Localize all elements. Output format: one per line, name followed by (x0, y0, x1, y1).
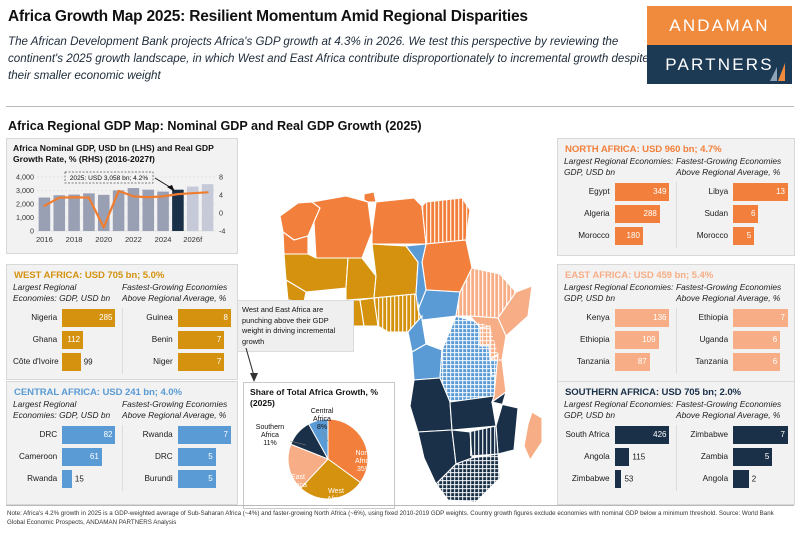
region-bar-row: Côte d'Ivoire99 (13, 352, 116, 372)
region-panel-east: EAST AFRICA: USD 459 bn; 5.4%Largest Reg… (557, 264, 795, 382)
pie-slice-label: Southern (256, 424, 285, 431)
africa-gdp-chart-panel: Africa Nominal GDP, USD bn (LHS) and Rea… (6, 138, 238, 254)
region-bar-label: Tanzania (564, 357, 615, 366)
region-heading-west: WEST AFRICA: USD 705 bn; 5.0% (7, 265, 237, 282)
region-bar-column-fastest: Zimbabwe7Zambia5Angola2 (677, 425, 789, 491)
growth-share-pie-panel: Share of Total Africa Growth, % (2025) N… (243, 382, 395, 509)
region-bars-southern: South Africa426Angola115Zimbabwe53Zimbab… (558, 421, 794, 497)
region-subtitles-central: Largest Regional Economies: GDP, USD bnF… (7, 399, 237, 421)
region-bar-value: 109 (642, 335, 658, 344)
page-subtitle: The African Development Bank projects Af… (8, 34, 653, 84)
region-bar-value: 6 (773, 357, 780, 366)
region-bar-label: Angola (683, 474, 734, 483)
region-bar-fill: 288 (615, 205, 660, 223)
region-bar-value: 136 (653, 313, 669, 322)
pie-slice-label: Africa (355, 458, 373, 465)
region-bar-fill: 180 (615, 227, 643, 245)
pie-slice-label: West (328, 488, 344, 495)
pie-slice-label: Africa (289, 482, 307, 489)
region-bar-value: 7 (781, 313, 788, 322)
map-country-mali (346, 258, 376, 300)
map-country-egypt-hatch (422, 198, 470, 244)
region-bar-row: Angola2 (683, 469, 789, 489)
region-bars-west: Nigeria285Ghana112Côte d'Ivoire99Guinea8… (7, 304, 237, 380)
region-bar-row: Zimbabwe53 (564, 469, 670, 489)
chart-ytick-left: 3,000 (16, 186, 34, 195)
region-bar-track: 82 (62, 426, 115, 444)
region-bar-track: 15 (62, 470, 115, 488)
region-bar-row: Libya13 (683, 182, 789, 202)
region-bar-value: 5 (208, 452, 215, 461)
region-bar-fill (733, 470, 749, 488)
region-bar-value: 180 (627, 231, 643, 240)
region-bar-row: Tanzania6 (683, 352, 789, 372)
region-heading-north: NORTH AFRICA: USD 960 bn; 4.7% (558, 139, 794, 156)
region-bar-value: 7 (217, 357, 224, 366)
region-bar-track: 5 (178, 470, 231, 488)
region-bar-row: Tanzania87 (564, 352, 670, 372)
map-country-algeria (312, 196, 372, 258)
pie-slice-label: 19% (291, 490, 305, 497)
region-bar-fill: 87 (615, 353, 650, 371)
region-bars-central: DRC82Cameroon61Rwanda15Rwanda7DRC5Burund… (7, 421, 237, 497)
region-bar-fill: 109 (615, 331, 659, 349)
region-bar-label: Uganda (683, 335, 734, 344)
region-bar-value: 6 (751, 209, 758, 218)
region-heading-east: EAST AFRICA: USD 459 bn; 5.4% (558, 265, 794, 282)
region-bar-label: Tanzania (683, 357, 734, 366)
region-bar-fill: 5 (178, 470, 216, 488)
region-bar-label: Nigeria (13, 313, 62, 322)
region-bar-fill: 6 (733, 331, 780, 349)
region-bar-label: Burundi (129, 474, 178, 483)
region-bar-fill: 6 (733, 205, 758, 223)
chart-bar (68, 195, 80, 231)
region-bar-track: 7 (178, 426, 231, 444)
region-bar-track: 61 (62, 448, 115, 466)
region-bar-value: 6 (773, 335, 780, 344)
region-bar-value: 15 (72, 474, 84, 483)
logo-top-text: ANDAMAN (647, 6, 792, 45)
pie-slice-label: 11% (263, 440, 277, 447)
chart-annotation-text: 2025: USD 3,058 bn; 4.2% (70, 175, 149, 182)
chart-ytick-right: -4 (219, 227, 225, 236)
region-bar-column-fastest: Libya13Sudan6Morocco5 (677, 182, 789, 248)
region-bar-row: DRC82 (13, 425, 116, 445)
region-bar-column-fastest: Ethiopia7Uganda6Tanzania6 (677, 308, 789, 374)
region-bar-value: 115 (629, 452, 645, 461)
region-bar-row: Cameroon61 (13, 447, 116, 467)
region-bar-label: Côte d'Ivoire (13, 357, 62, 366)
region-subtitle-largest: Largest Regional Economies: GDP, USD bn (564, 399, 676, 421)
chart-xtick: 2018 (66, 235, 83, 244)
footnote-text: Note: Africa's 4.2% growth in 2025 is a … (7, 509, 793, 528)
region-bar-row: Egypt349 (564, 182, 670, 202)
region-bar-row: Kenya136 (564, 308, 670, 328)
region-bar-track: 426 (615, 426, 670, 444)
map-country-libya (372, 198, 426, 244)
region-subtitles-east: Largest Regional Economies: GDP, USD bnF… (558, 282, 794, 304)
region-bar-track: 109 (615, 331, 670, 349)
region-bar-track: 53 (615, 470, 670, 488)
region-bar-track: 136 (615, 309, 670, 327)
region-bar-fill: 7 (178, 426, 231, 444)
region-bar-label: Libya (683, 187, 734, 196)
region-bar-row: South Africa426 (564, 425, 670, 445)
region-subtitles-west: Largest Regional Economies: GDP, USD bnF… (7, 282, 237, 304)
region-bar-value: 5 (747, 231, 754, 240)
region-subtitle-largest: Largest Regional Economies: GDP, USD bn (564, 156, 676, 178)
region-bar-value: 53 (621, 474, 633, 483)
region-bar-label: Zambia (683, 452, 734, 461)
chart-xtick: 2026f (183, 235, 203, 244)
region-bar-column-fastest: Guinea8Benin7Niger7 (123, 308, 232, 374)
region-bar-value: 13 (776, 187, 788, 196)
pie-title: Share of Total Africa Growth, % (2025) (244, 383, 394, 409)
footnote-divider (6, 505, 794, 506)
region-bar-fill: 61 (62, 448, 102, 466)
region-bar-track: 285 (62, 309, 115, 327)
region-bar-fill: 5 (733, 448, 772, 466)
region-bar-label: Kenya (564, 313, 615, 322)
chart-ytick-right: 4 (219, 191, 223, 200)
region-bar-label: Zimbabwe (683, 430, 734, 439)
region-bar-fill (62, 353, 81, 371)
region-bar-label: Angola (564, 452, 615, 461)
chart-ytick-left: 4,000 (16, 173, 34, 182)
region-bar-column-largest: Egypt349Algeria288Morocco180 (564, 182, 677, 248)
region-bar-row: Ghana112 (13, 330, 116, 350)
region-heading-southern: SOUTHERN AFRICA: USD 705 bn; 2.0% (558, 382, 794, 399)
pie-slice-label: 8% (317, 424, 327, 431)
region-bar-value: 7 (781, 430, 788, 439)
region-bar-row: Ethiopia7 (683, 308, 789, 328)
region-bar-track: 112 (62, 331, 115, 349)
region-bar-fill: 5 (733, 227, 754, 245)
logo-sail-icon (768, 61, 786, 81)
pie-slice-label: North (355, 450, 372, 457)
region-bar-fill: 13 (733, 183, 788, 201)
region-bar-fill: 7 (178, 331, 225, 349)
region-bar-value: 285 (99, 313, 115, 322)
region-bar-fill: 5 (178, 448, 216, 466)
region-bar-label: Ethiopia (564, 335, 615, 344)
region-bar-row: Rwanda15 (13, 469, 116, 489)
region-bar-value: 7 (224, 430, 231, 439)
chart-bar (142, 190, 154, 231)
map-country-zambia (450, 396, 496, 430)
region-bar-row: Uganda6 (683, 330, 789, 350)
region-bar-track: 13 (733, 183, 788, 201)
pie-slice-label: 35% (357, 466, 371, 473)
map-country-drc-hatch (440, 316, 498, 402)
chart-xtick: 2016 (36, 235, 53, 244)
region-bar-value: 8 (224, 313, 231, 322)
logo-bottom-label: PARTNERS (665, 55, 774, 75)
chart-xtick: 2024 (155, 235, 172, 244)
region-panel-west: WEST AFRICA: USD 705 bn; 5.0%Largest Reg… (6, 264, 238, 380)
region-bar-fill (615, 448, 630, 466)
region-bar-label: Zimbabwe (564, 474, 615, 483)
region-bar-value: 2 (749, 474, 756, 483)
region-bar-column-largest: South Africa426Angola115Zimbabwe53 (564, 425, 677, 491)
region-bar-row: Algeria288 (564, 204, 670, 224)
region-bar-track: 7 (178, 331, 231, 349)
pie-slice-label: Central (311, 408, 334, 415)
region-bar-track: 7 (178, 353, 231, 371)
region-bar-label: Niger (129, 357, 178, 366)
region-bar-track: 7 (733, 309, 788, 327)
region-bar-value: 99 (81, 357, 93, 366)
region-bar-label: DRC (13, 430, 62, 439)
region-bar-track: 288 (615, 205, 670, 223)
region-bar-label: Morocco (564, 231, 615, 240)
map-country-tunisia (364, 192, 376, 202)
region-bar-row: Zimbabwe7 (683, 425, 789, 445)
region-bar-label: Morocco (683, 231, 734, 240)
region-bar-label: Cameroon (13, 452, 62, 461)
region-bar-label: Rwanda (13, 474, 62, 483)
region-bar-track: 99 (62, 353, 115, 371)
pie-slice-label: Africa (327, 496, 345, 503)
region-bar-label: Ghana (13, 335, 62, 344)
chart-xtick: 2020 (95, 235, 112, 244)
region-bars-east: Kenya136Ethiopia109Tanzania87Ethiopia7Ug… (558, 304, 794, 380)
region-bar-track: 7 (733, 426, 788, 444)
region-subtitle-fastest: Fastest-Growing Economies Above Regional… (676, 156, 788, 178)
region-bar-row: Nigeria285 (13, 308, 116, 328)
map-annotation-callout: West and East Africa are punching above … (236, 300, 354, 352)
region-bar-row: Ethiopia109 (564, 330, 670, 350)
region-bar-row: Morocco180 (564, 226, 670, 246)
region-subtitle-fastest: Fastest-Growing Economies Above Regional… (676, 282, 788, 304)
region-bar-value: 288 (644, 209, 660, 218)
region-bar-fill: 426 (615, 426, 670, 444)
region-bar-track: 349 (615, 183, 670, 201)
region-bar-track: 5 (733, 227, 788, 245)
region-bar-value: 426 (653, 430, 669, 439)
region-bar-value: 112 (67, 335, 83, 344)
region-bar-row: DRC5 (129, 447, 232, 467)
region-bar-fill: 7 (733, 426, 788, 444)
region-bar-track: 8 (178, 309, 231, 327)
region-bar-value: 87 (638, 357, 650, 366)
region-bar-fill: 8 (178, 309, 231, 327)
region-bar-label: Benin (129, 335, 178, 344)
region-bar-row: Guinea8 (129, 308, 232, 328)
region-bar-track: 6 (733, 331, 788, 349)
chart-bar (202, 184, 214, 231)
logo-bottom-text: PARTNERS (647, 45, 792, 84)
infographic-page: Africa Growth Map 2025: Resilient Moment… (0, 0, 800, 533)
region-bar-value: 61 (90, 452, 102, 461)
region-bar-label: Rwanda (129, 430, 178, 439)
andaman-partners-logo: ANDAMAN PARTNERS (647, 6, 792, 84)
region-subtitle-fastest: Fastest-Growing Economies Above Regional… (122, 282, 231, 304)
region-bar-fill (62, 470, 72, 488)
callout-arrow-icon (238, 346, 278, 386)
region-subtitles-north: Largest Regional Economies: GDP, USD bnF… (558, 156, 794, 178)
region-heading-central: CENTRAL AFRICA: USD 241 bn; 4.0% (7, 382, 237, 399)
region-bar-track: 180 (615, 227, 670, 245)
region-bar-row: Angola115 (564, 447, 670, 467)
region-subtitle-largest: Largest Regional Economies: GDP, USD bn (13, 399, 122, 421)
region-bar-column-largest: Kenya136Ethiopia109Tanzania87 (564, 308, 677, 374)
region-subtitle-largest: Largest Regional Economies: GDP, USD bn (564, 282, 676, 304)
region-subtitle-fastest: Fastest-Growing Economies Above Regional… (676, 399, 788, 421)
chart-ytick-right: 0 (219, 209, 223, 218)
chart-xtick: 2022 (125, 235, 142, 244)
region-bar-column-largest: DRC82Cameroon61Rwanda15 (13, 425, 123, 491)
region-bar-track: 2 (733, 470, 788, 488)
region-bar-value: 82 (104, 430, 116, 439)
region-bar-track: 115 (615, 448, 670, 466)
page-title: Africa Growth Map 2025: Resilient Moment… (8, 8, 648, 26)
region-bar-track: 5 (733, 448, 788, 466)
region-bar-label: Ethiopia (683, 313, 734, 322)
region-bar-fill: 136 (615, 309, 670, 327)
region-bar-value: 349 (653, 187, 669, 196)
region-bar-label: DRC (129, 452, 178, 461)
pie-slice-label: Africa (313, 416, 331, 423)
region-bar-row: Morocco5 (683, 226, 789, 246)
chart-ytick-left: 2,000 (16, 200, 34, 209)
region-panel-north: NORTH AFRICA: USD 960 bn; 4.7%Largest Re… (557, 138, 795, 256)
map-country-gabon-congo (412, 344, 442, 380)
gdp-chart-svg: 4,0003,0002,0001,0000840-420162018202020… (7, 171, 239, 253)
pie-chart-svg: NorthAfrica35%WestAfrica27%EastAfrica19%… (244, 407, 396, 509)
region-bar-fill: 7 (733, 309, 788, 327)
region-bar-fill: 112 (62, 331, 83, 349)
region-bar-row: Sudan6 (683, 204, 789, 224)
chart-ytick-right: 8 (219, 173, 223, 182)
region-bar-row: Benin7 (129, 330, 232, 350)
region-bar-value: 5 (208, 474, 215, 483)
chart-title: Africa Nominal GDP, USD bn (LHS) and Rea… (7, 139, 237, 166)
region-bar-row: Burundi5 (129, 469, 232, 489)
region-bar-column-largest: Nigeria285Ghana112Côte d'Ivoire99 (13, 308, 123, 374)
region-bar-fill (615, 470, 622, 488)
region-bar-row: Zambia5 (683, 447, 789, 467)
chart-ytick-left: 1,000 (16, 213, 34, 222)
region-bars-north: Egypt349Algeria288Morocco180Libya13Sudan… (558, 178, 794, 254)
region-subtitle-largest: Largest Regional Economies: GDP, USD bn (13, 282, 122, 304)
chart-plot-area: 4,0003,0002,0001,0000840-420162018202020… (7, 171, 239, 253)
region-bar-track: 6 (733, 205, 788, 223)
pie-slice-label: Africa (261, 432, 279, 439)
region-bar-label: Algeria (564, 209, 615, 218)
region-bar-track: 5 (178, 448, 231, 466)
region-bar-value: 7 (217, 335, 224, 344)
region-subtitles-southern: Largest Regional Economies: GDP, USD bnF… (558, 399, 794, 421)
map-country-madagascar (524, 412, 542, 460)
region-bar-fill: 6 (733, 353, 780, 371)
section-title: Africa Regional GDP Map: Nominal GDP and… (8, 119, 422, 133)
pie-slice-label: East (291, 474, 305, 481)
region-bar-label: Egypt (564, 187, 615, 196)
region-panel-central: CENTRAL AFRICA: USD 241 bn; 4.0%Largest … (6, 381, 238, 505)
region-bar-track: 87 (615, 353, 670, 371)
chart-bar (113, 190, 125, 231)
region-bar-fill: 349 (615, 183, 670, 201)
region-bar-value: 5 (765, 452, 772, 461)
region-bar-row: Niger7 (129, 352, 232, 372)
chart-ytick-left: 0 (30, 227, 34, 236)
region-bar-track: 6 (733, 353, 788, 371)
chart-bar (172, 190, 184, 231)
region-subtitle-fastest: Fastest-Growing Economies Above Regional… (122, 399, 231, 421)
header-divider (6, 106, 794, 107)
map-country-car (418, 290, 460, 320)
region-bar-row: Rwanda7 (129, 425, 232, 445)
region-bar-column-fastest: Rwanda7DRC5Burundi5 (123, 425, 232, 491)
region-panel-southern: SOUTHERN AFRICA: USD 705 bn; 2.0%Largest… (557, 381, 795, 505)
region-bar-label: South Africa (564, 430, 615, 439)
region-bar-fill: 285 (62, 309, 115, 327)
region-bar-label: Sudan (683, 209, 734, 218)
region-bar-fill: 7 (178, 353, 225, 371)
region-bar-fill: 82 (62, 426, 115, 444)
region-bar-label: Guinea (129, 313, 178, 322)
